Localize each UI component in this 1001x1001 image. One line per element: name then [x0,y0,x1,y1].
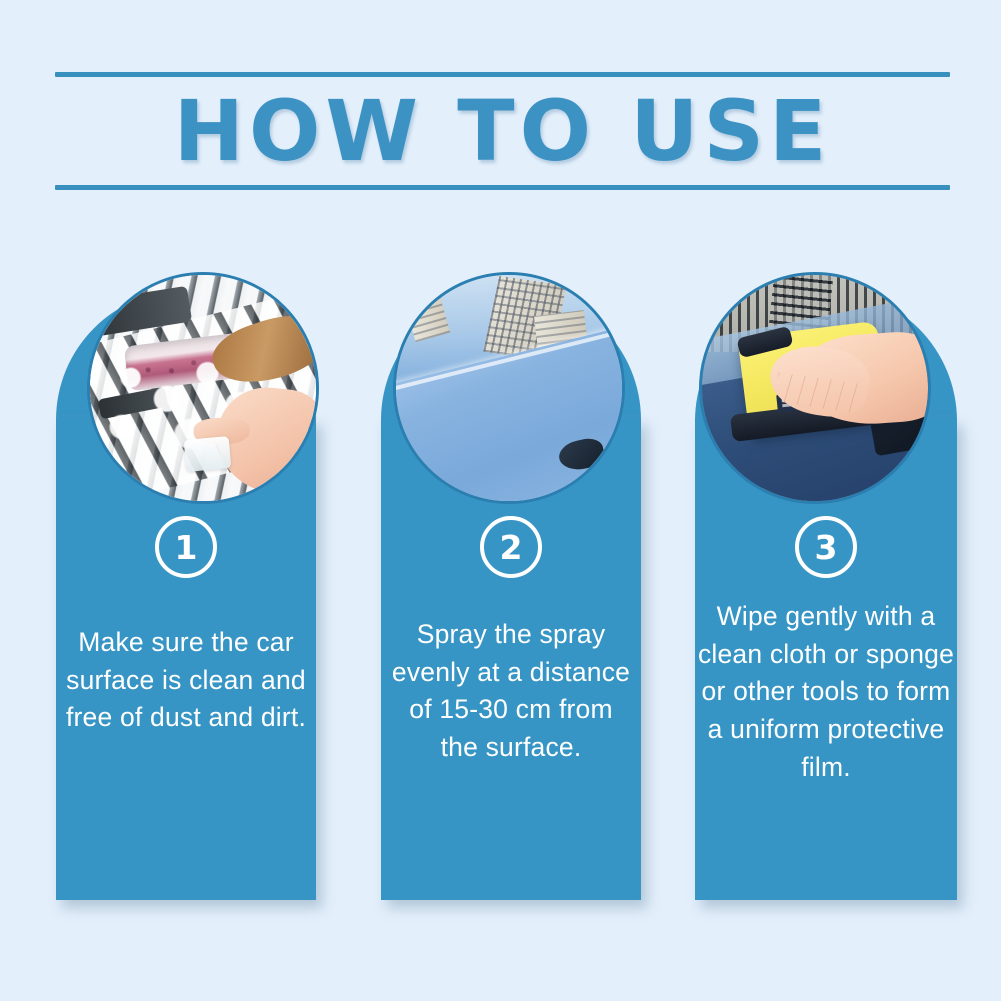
blue-car-hood-reflection-photo [393,272,625,504]
step-3-caption: Wipe gently with a clean cloth or sponge… [695,598,957,786]
title-rule-top [55,72,950,77]
page-title: HOW TO USE [55,78,950,184]
infographic-page: HOW TO USE 1 Make sure the car surface i [0,0,1001,1001]
header: HOW TO USE [55,72,950,192]
step-2-number-badge: 2 [480,516,542,578]
step-1-number: 1 [175,531,198,564]
step-card-2: 2 Spray the spray evenly at a distance o… [367,268,655,900]
step-2-number: 2 [500,531,523,564]
step-card-3: 3 Wipe gently with a clean cloth or spon… [681,268,971,900]
step-3-number: 3 [815,531,838,564]
soapy-sponge-on-car-photo [87,272,319,504]
step-1-caption: Make sure the car surface is clean and f… [56,624,316,737]
steps-row: 1 Make sure the car surface is clean and… [0,268,1001,928]
step-3-number-badge: 3 [795,516,857,578]
step-1-number-badge: 1 [155,516,217,578]
hand-wiping-yellow-microfiber-cloth-photo [699,272,931,504]
title-rule-bottom [55,185,950,190]
step-card-1: 1 Make sure the car surface is clean and… [42,268,330,900]
step-2-caption: Spray the spray evenly at a distance of … [381,616,641,767]
